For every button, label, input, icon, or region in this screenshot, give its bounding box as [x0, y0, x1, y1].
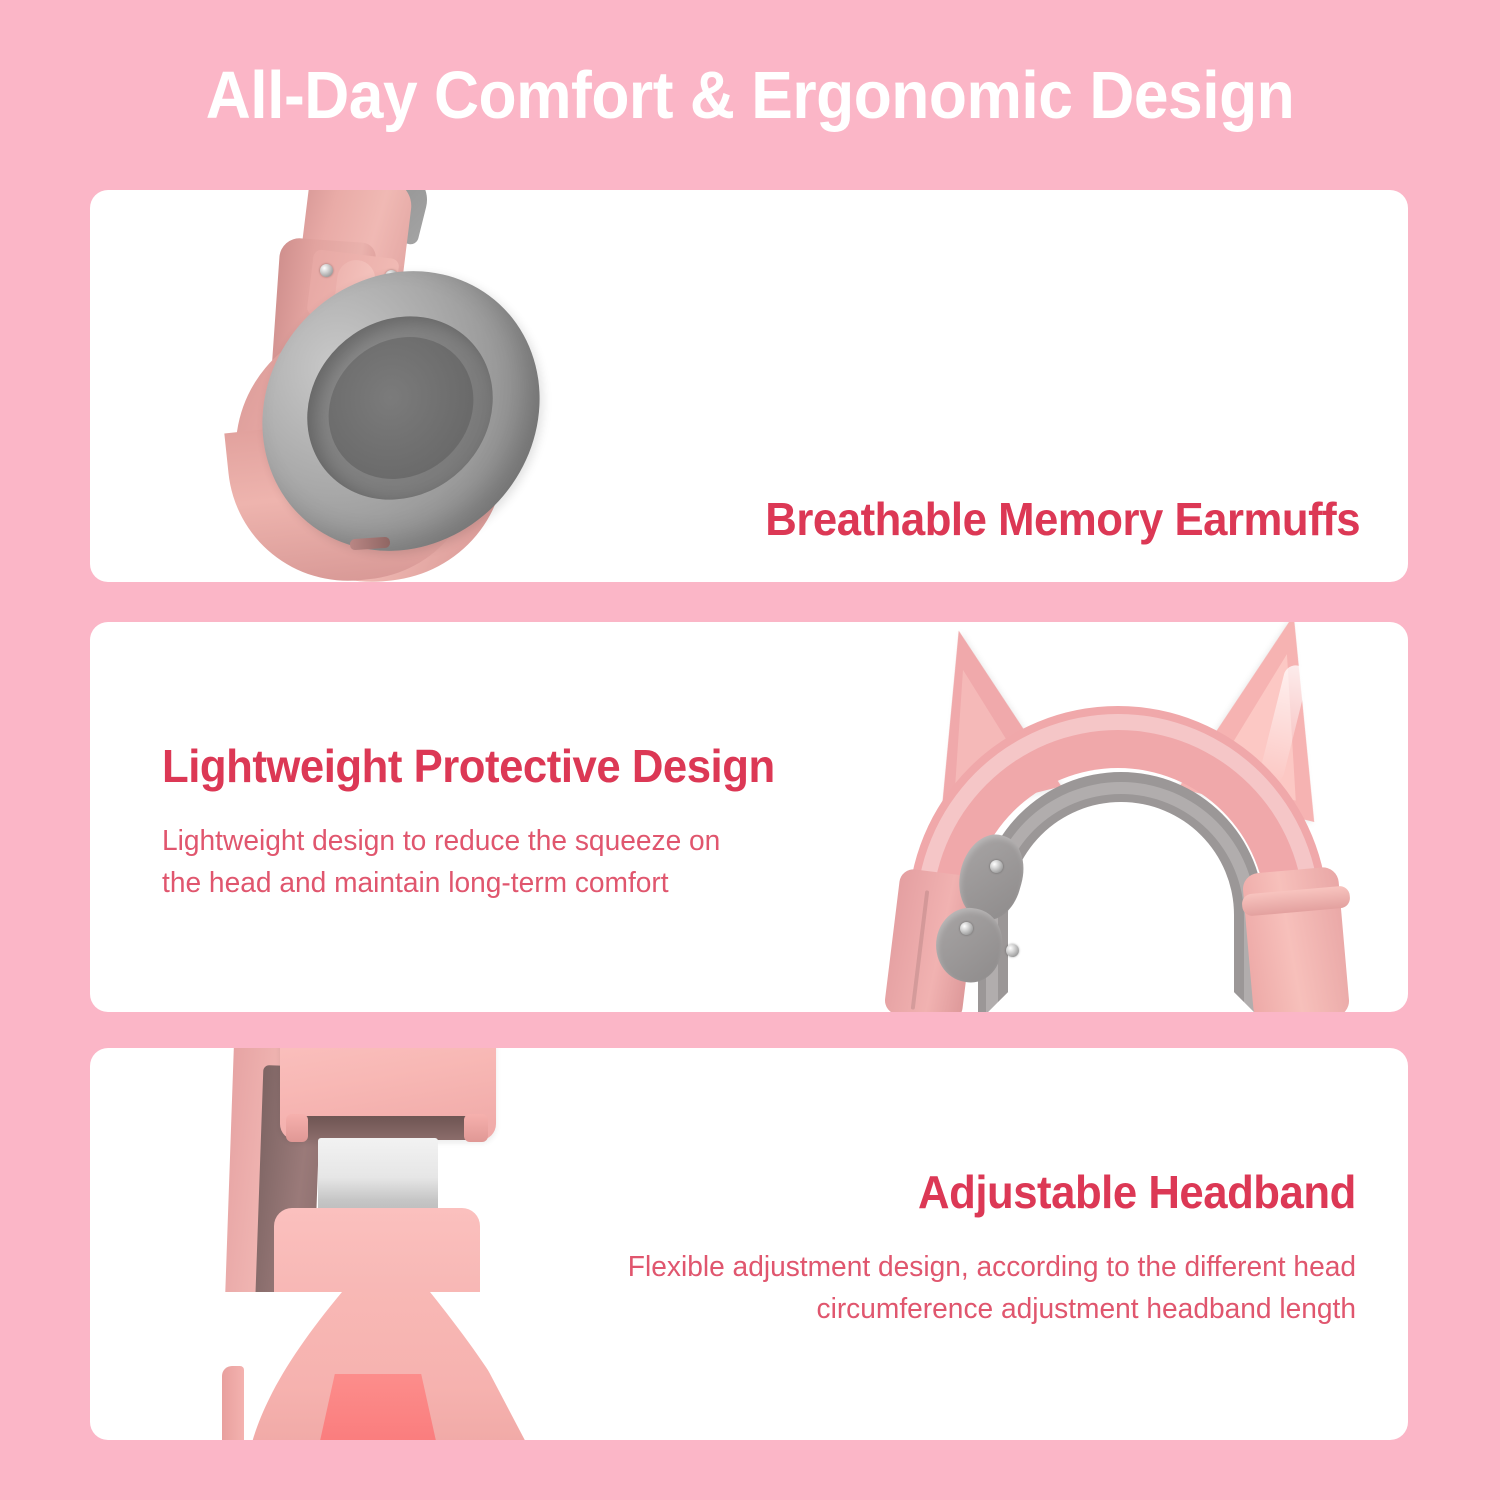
feature-headline: Breathable Memory Earmuffs [765, 495, 1360, 543]
screw-icon [1006, 944, 1019, 957]
feature-description: Flexible adjustment design, according to… [580, 1246, 1356, 1330]
headband-slider-slot-left-cap [286, 1114, 308, 1142]
feature-description-line: the head and maintain long-term comfort [162, 862, 763, 904]
headband-slider-image [170, 1048, 600, 1440]
feature-card-lightweight-protective-design: Lightweight Protective Design Lightweigh… [90, 622, 1408, 1012]
screw-icon [960, 922, 973, 935]
feature-description: Highly breathable design reduces the fee… [759, 578, 1360, 582]
feature-description-line: circumference adjustment headband length [580, 1288, 1356, 1330]
screw-icon [320, 264, 333, 277]
page-title: All-Day Comfort & Ergonomic Design [53, 62, 1448, 129]
headband-slider-slot [294, 1116, 480, 1140]
headband-accent-inset [318, 1374, 438, 1440]
feature-headline: Adjustable Headband [918, 1168, 1356, 1216]
feature-description-line: Highly breathable design reduces the fee… [759, 578, 1360, 582]
feature-description-line: Lightweight design to reduce the squeeze… [162, 820, 763, 862]
feature-description-line: Flexible adjustment design, according to… [580, 1246, 1356, 1288]
feature-card-adjustable-headband: Adjustable Headband Flexible adjustment … [90, 1048, 1408, 1440]
feature-headline: Lightweight Protective Design [162, 742, 775, 790]
headphone-earcup-image [200, 190, 560, 582]
feature-card-breathable-memory-earmuffs: Breathable Memory Earmuffs Highly breath… [90, 190, 1408, 582]
headband-yoke-left-edge [222, 1366, 244, 1440]
headband-slider-slot-right-cap [464, 1114, 488, 1142]
screw-icon [990, 860, 1003, 873]
cat-ear-headband-image [874, 622, 1408, 1012]
feature-description: Lightweight design to reduce the squeeze… [162, 820, 763, 904]
